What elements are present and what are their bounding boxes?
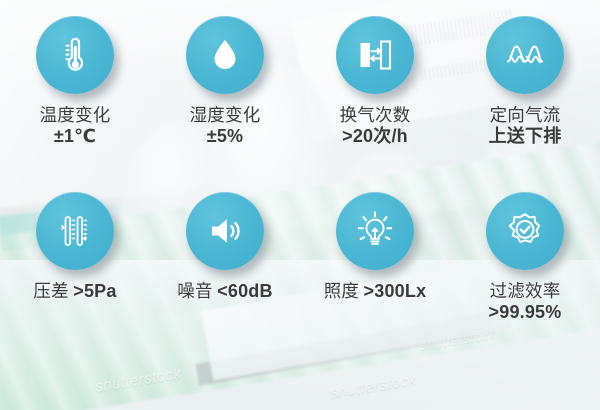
feature-label-line2: >20次/h (340, 126, 411, 147)
air-exchange-icon (336, 16, 414, 94)
feature-label-line2: ±1℃ (40, 126, 111, 147)
feature-item-temperature-variation[interactable]: 温度变化 ±1℃ (0, 16, 150, 184)
feature-grid: 温度变化 ±1℃ 湿度变化 ±5% (0, 0, 600, 410)
feature-label: 噪音 <60dB (177, 281, 272, 303)
feature-label-line1: 温度变化 (40, 105, 111, 125)
feature-label: 过滤效率 >99.95% (489, 281, 562, 323)
feature-label-line2: >300Lx (364, 281, 427, 301)
feature-label-line1: 定向气流 (489, 105, 562, 125)
feature-label: 照度 >300Lx (324, 281, 427, 303)
feature-label-line2: >99.95% (489, 302, 562, 323)
pressure-slider-icon (36, 192, 114, 270)
feature-label-line1: 压差 (33, 281, 68, 301)
thermometer-icon (36, 16, 114, 94)
feature-label-line1: 湿度变化 (190, 105, 261, 125)
speaker-icon (186, 192, 264, 270)
feature-item-filtration-efficiency[interactable]: 过滤效率 >99.95% (450, 184, 600, 374)
feature-label: 换气次数 >20次/h (340, 105, 411, 147)
feature-item-noise-level[interactable]: 噪音 <60dB (150, 184, 300, 374)
lightbulb-icon (336, 192, 414, 270)
feature-label-line1: 噪音 (177, 281, 212, 301)
feature-label-line1: 过滤效率 (489, 281, 562, 301)
feature-item-directional-airflow[interactable]: 定向气流 上送下排 (450, 16, 600, 184)
feature-item-illuminance[interactable]: 照度 >300Lx (300, 184, 450, 374)
airflow-wave-icon (486, 16, 564, 94)
feature-item-humidity-variation[interactable]: 湿度变化 ±5% (150, 16, 300, 184)
feature-label-line2: 上送下排 (489, 126, 562, 147)
feature-item-air-change-rate[interactable]: 换气次数 >20次/h (300, 16, 450, 184)
feature-item-pressure-difference[interactable]: 压差 >5Pa (0, 184, 150, 374)
filter-badge-icon (486, 192, 564, 270)
feature-label-line1: 照度 (324, 281, 359, 301)
feature-label: 温度变化 ±1℃ (40, 105, 111, 147)
infographic-stage: shutterstock shutterstock shutterstock 温… (0, 0, 600, 410)
feature-label-line1: 换气次数 (340, 105, 411, 125)
feature-label: 定向气流 上送下排 (489, 105, 562, 147)
feature-label-line2: ±5% (190, 126, 261, 147)
feature-label-line2: <60dB (217, 281, 273, 301)
water-drop-icon (186, 16, 264, 94)
feature-label: 湿度变化 ±5% (190, 105, 261, 147)
feature-label-line2: >5Pa (73, 281, 116, 301)
feature-label: 压差 >5Pa (33, 281, 116, 303)
